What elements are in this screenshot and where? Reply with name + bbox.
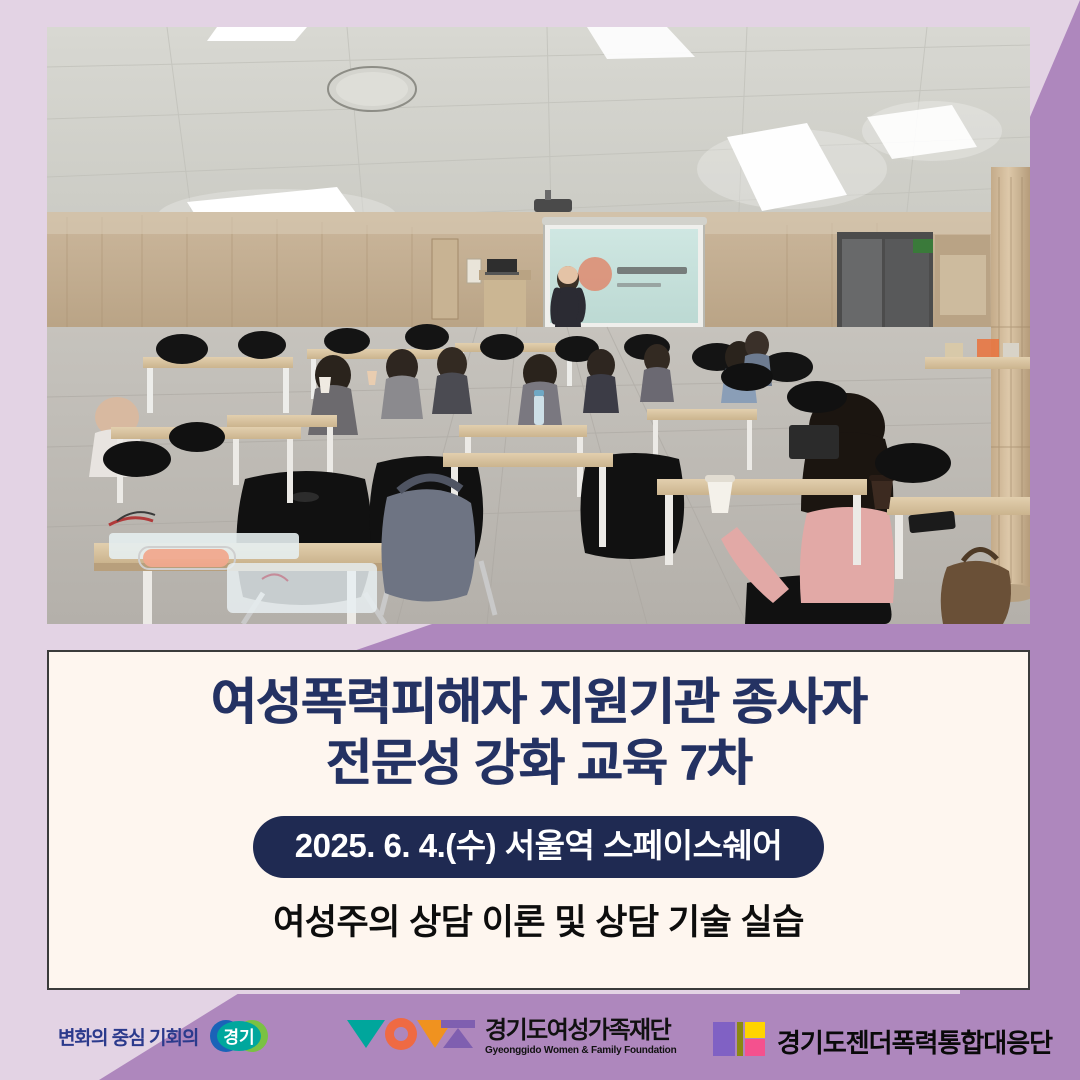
poster-canvas: 여성폭력피해자 지원기관 종사자 전문성 강화 교육 7차 2025. 6. 4… — [0, 0, 1080, 1080]
title-line-1: 여성폭력피해자 지원기관 종사자 — [211, 672, 867, 733]
gyeonggi-slogan: 변화의 중심 기회의 — [58, 1023, 198, 1050]
gyeonggi-mark-svg: 경기 — [206, 1018, 272, 1054]
wff-symbol-svg — [345, 1014, 475, 1056]
footer-logo-row: 변화의 중심 기회의 경기 — [0, 994, 1080, 1080]
gyeonggido-women-family-foundation-logo: 경기도여성가족재단 Gyeonggido Women & Family Foun… — [345, 1014, 677, 1061]
gyeonggi-province-logo: 변화의 중심 기회의 경기 — [58, 1018, 272, 1054]
gbv-symbol-icon — [713, 1018, 765, 1065]
svg-text:경기: 경기 — [224, 1028, 255, 1047]
wff-symbol-icon — [345, 1014, 475, 1061]
gyeonggi-mark-icon: 경기 — [206, 1018, 272, 1054]
gbv-name-kr: 경기도젠더폭력통합대응단 — [777, 1023, 1052, 1060]
gbv-symbol-svg — [713, 1018, 765, 1060]
lecture-hall-photo-illustration — [47, 27, 1030, 624]
page-title: 여성폭력피해자 지원기관 종사자 전문성 강화 교육 7차 — [211, 672, 867, 794]
title-line-2: 전문성 강화 교육 7차 — [211, 733, 867, 794]
wff-wordmark: 경기도여성가족재단 Gyeonggido Women & Family Foun… — [485, 1019, 677, 1056]
date-location-badge: 2025. 6. 4.(수) 서울역 스페이스쉐어 — [253, 816, 824, 878]
gyeonggido-gender-violence-response-team-logo: 경기도젠더폭력통합대응단 — [713, 1018, 1052, 1065]
wff-name-en: Gyeonggido Women & Family Foundation — [485, 1046, 677, 1056]
info-card: 여성폭력피해자 지원기관 종사자 전문성 강화 교육 7차 2025. 6. 4… — [47, 650, 1030, 990]
lecture-hall-photo — [47, 27, 1030, 624]
wff-name-kr: 경기도여성가족재단 — [485, 1019, 677, 1043]
session-subject: 여성주의 상담 이론 및 상담 기술 실습 — [273, 902, 804, 944]
